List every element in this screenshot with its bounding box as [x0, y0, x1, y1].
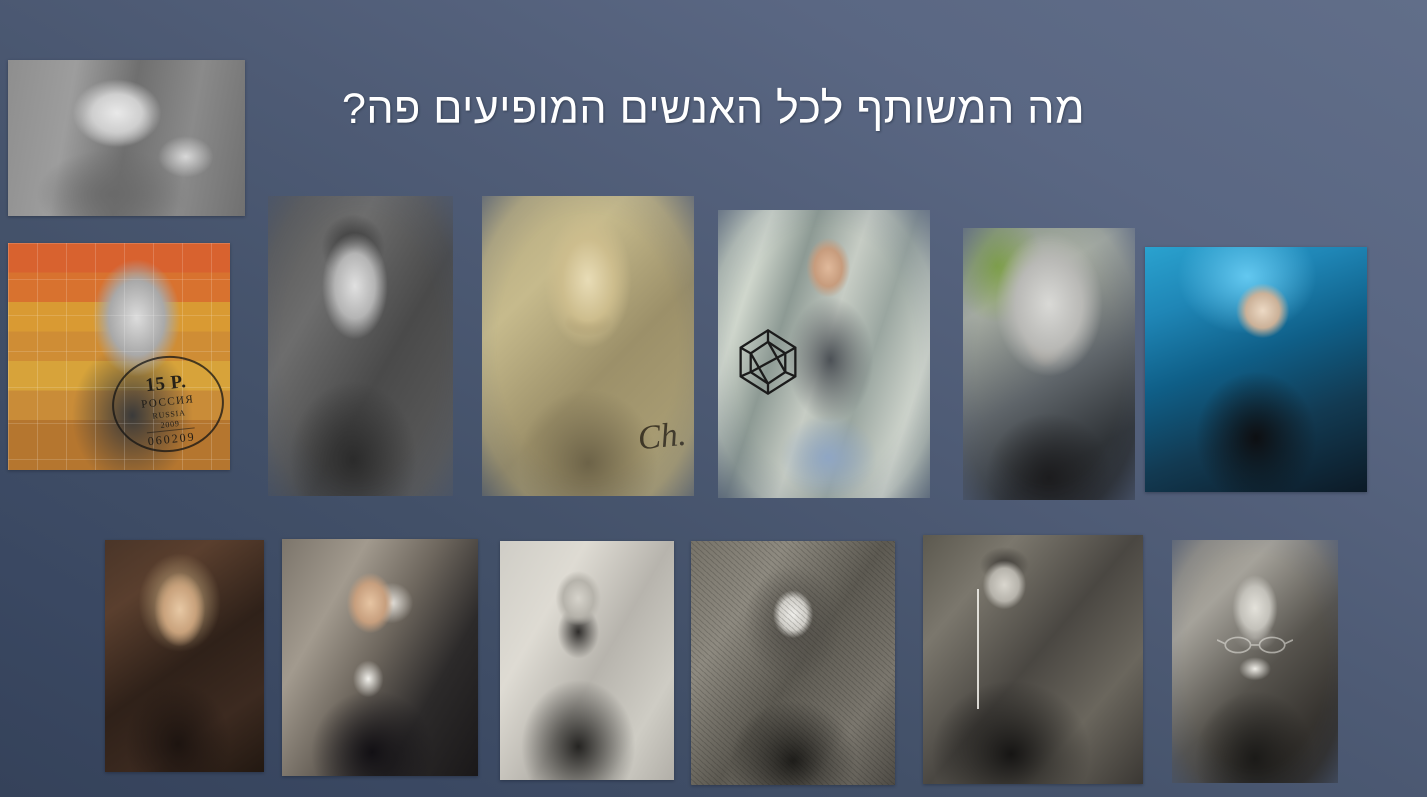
photo-shechtman: [718, 210, 930, 498]
watson-portrait-image: [1145, 247, 1367, 492]
photo-mendel: [1172, 540, 1338, 783]
photo-einstein: [8, 60, 245, 216]
quasicrystal-model-icon: [732, 326, 804, 398]
rontgen-portrait-image: [500, 541, 674, 780]
photo-newton: [105, 540, 264, 772]
photo-katzir: [268, 196, 453, 496]
katzir-portrait-image: [268, 196, 453, 496]
spectacles-icon: [1217, 635, 1293, 655]
einstein-portrait-image: [8, 60, 245, 216]
presentation-slide: מה המשותף לכל האנשים המופיעים פה? 15 P. …: [0, 0, 1427, 797]
weizmann-signature: Ch.: [636, 416, 688, 459]
photo-watson: [1145, 247, 1367, 492]
curie-portrait-image: [923, 535, 1143, 784]
photo-mendeleev-stamp: 15 P. РОССИЯ RUSSIA 2009 060209: [8, 243, 230, 470]
lavoisier-portrait-image: [282, 539, 478, 776]
photo-lavoisier: [282, 539, 478, 776]
stamp-postmark-number: 060209: [147, 427, 197, 449]
photo-huygens: [691, 541, 895, 785]
mendel-portrait-image: [1172, 540, 1338, 783]
yonath-portrait-image: [963, 228, 1135, 500]
photo-curie: [923, 535, 1143, 784]
newton-portrait-image: [105, 540, 264, 772]
photo-yonath: [963, 228, 1135, 500]
photo-rontgen: [500, 541, 674, 780]
photo-weizmann: Ch.: [482, 196, 694, 496]
engraving-hatching: [691, 541, 895, 785]
